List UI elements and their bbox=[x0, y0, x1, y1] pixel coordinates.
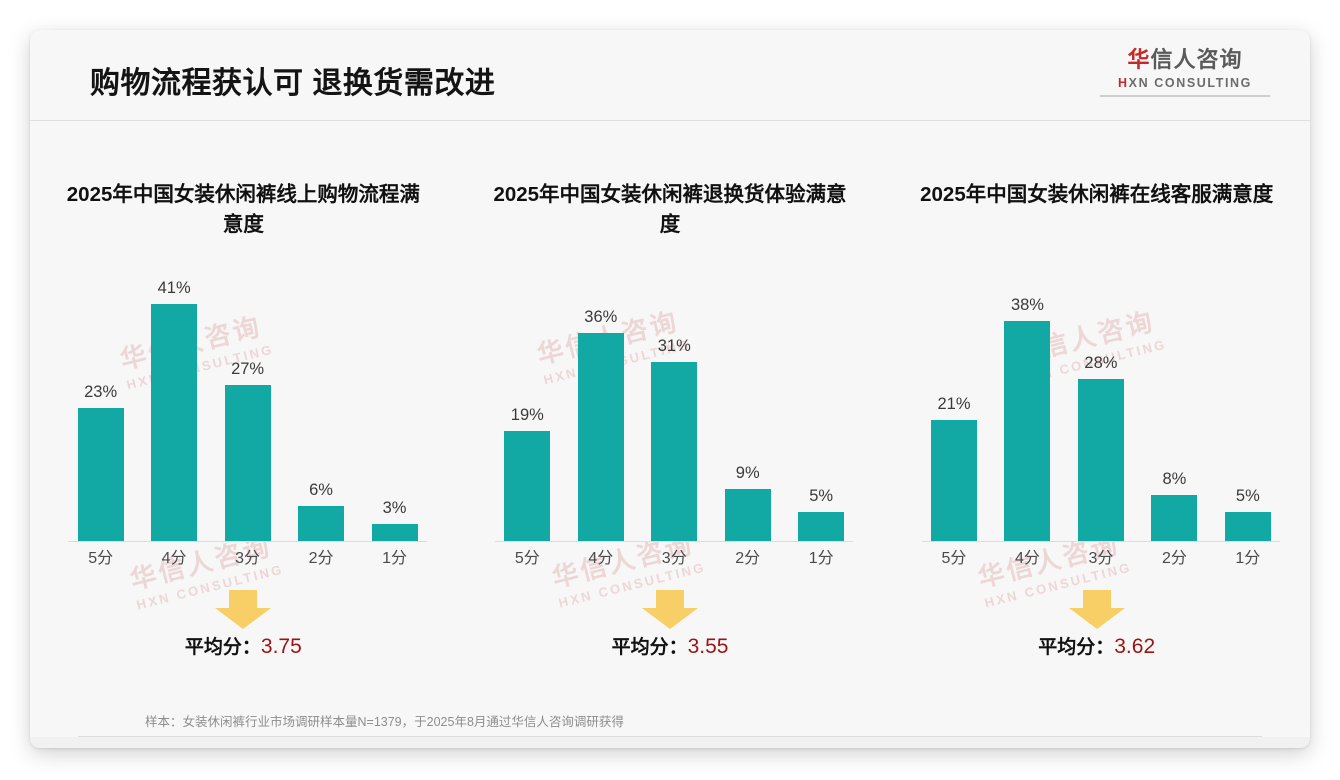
x-tick-label: 3分 bbox=[1069, 544, 1134, 568]
x-tick-label: 3分 bbox=[215, 544, 280, 568]
bar-group: 19% 36% 31% 9% bbox=[495, 282, 853, 541]
bar-group: 21% 38% 28% 8% bbox=[922, 282, 1280, 541]
average-score-value: 3.55 bbox=[688, 635, 729, 658]
bar[interactable] bbox=[78, 408, 124, 541]
logo-english-accent: H bbox=[1118, 76, 1129, 90]
bar-column: 5% bbox=[1216, 282, 1281, 541]
slide-footer: ©2025.10 HXR华信人咨询 www.hxrcon.com bbox=[30, 737, 1310, 748]
logo-chinese-accent: 华 bbox=[1127, 47, 1150, 72]
bar[interactable] bbox=[372, 524, 418, 541]
x-tick-label: 2分 bbox=[715, 544, 780, 568]
down-arrow-icon bbox=[30, 590, 457, 630]
logo-english-rest: XN CONSULTING bbox=[1129, 76, 1252, 90]
chart-plot-area: 19% 36% 31% 9% bbox=[457, 282, 884, 542]
bar-column: 5% bbox=[789, 282, 854, 541]
bar[interactable] bbox=[931, 420, 977, 541]
bar-value-label: 19% bbox=[489, 406, 566, 425]
x-tick-label: 1分 bbox=[789, 544, 854, 568]
average-score-label: 平均分： bbox=[612, 637, 688, 658]
x-tick-label: 1分 bbox=[362, 544, 427, 568]
chart-plot-area: 21% 38% 28% 8% bbox=[883, 282, 1310, 542]
charts-row: 华信人咨询 HXN CONSULTING 华信人咨询 HXN CONSULTIN… bbox=[30, 122, 1310, 662]
bar-value-label: 28% bbox=[1062, 354, 1139, 373]
average-score: 平均分：3.62 bbox=[883, 632, 1310, 659]
x-axis-labels: 5分 4分 3分 2分 1分 bbox=[922, 544, 1280, 568]
logo-underline bbox=[1100, 95, 1270, 97]
slide-header: 购物流程获认可 退换货需改进 华信人咨询 HXN CONSULTING bbox=[30, 30, 1310, 121]
bar-value-label: 3% bbox=[356, 499, 433, 518]
logo-chinese-rest: 信人咨询 bbox=[1151, 47, 1243, 72]
down-arrow-icon bbox=[883, 590, 1310, 630]
brand-logo: 华信人咨询 HXN CONSULTING bbox=[1100, 46, 1270, 97]
bar-value-label: 8% bbox=[1136, 470, 1213, 489]
bar[interactable] bbox=[504, 431, 550, 541]
bar-column: 41% bbox=[142, 282, 207, 541]
slide-canvas: 购物流程获认可 退换货需改进 华信人咨询 HXN CONSULTING 华信人咨… bbox=[30, 30, 1310, 748]
bar-column: 38% bbox=[995, 282, 1060, 541]
bar[interactable] bbox=[578, 333, 624, 541]
chart-panel-2: 华信人咨询 HXN CONSULTING 华信人咨询 HXN CONSULTIN… bbox=[457, 122, 884, 662]
average-score-value: 3.62 bbox=[1114, 635, 1155, 658]
bar-column: 31% bbox=[642, 282, 707, 541]
bar-column: 21% bbox=[922, 282, 987, 541]
bar-value-label: 38% bbox=[989, 296, 1066, 315]
x-tick-label: 4分 bbox=[995, 544, 1060, 568]
bar-value-label: 36% bbox=[562, 308, 639, 327]
logo-english: HXN CONSULTING bbox=[1100, 76, 1270, 90]
x-tick-label: 4分 bbox=[142, 544, 207, 568]
x-axis-labels: 5分 4分 3分 2分 1分 bbox=[495, 544, 853, 568]
bar[interactable] bbox=[651, 362, 697, 541]
bar[interactable] bbox=[151, 304, 197, 541]
bar-value-label: 41% bbox=[135, 279, 212, 298]
bar[interactable] bbox=[798, 512, 844, 541]
chart-title: 2025年中国女装休闲裤线上购物流程满意度 bbox=[64, 180, 422, 239]
chart-panel-3: 华信人咨询 HXN CONSULTING 华信人咨询 HXN CONSULTIN… bbox=[883, 122, 1310, 662]
x-axis-line bbox=[922, 541, 1280, 542]
x-tick-label: 5分 bbox=[495, 544, 560, 568]
bar-value-label: 21% bbox=[915, 395, 992, 414]
x-tick-label: 2分 bbox=[1142, 544, 1207, 568]
x-tick-label: 5分 bbox=[922, 544, 987, 568]
bar-column: 6% bbox=[289, 282, 354, 541]
x-tick-label: 4分 bbox=[569, 544, 634, 568]
bar[interactable] bbox=[1078, 379, 1124, 541]
x-tick-label: 5分 bbox=[68, 544, 133, 568]
bar[interactable] bbox=[298, 506, 344, 541]
bar-value-label: 6% bbox=[282, 481, 359, 500]
bar-value-label: 5% bbox=[782, 487, 859, 506]
x-tick-label: 3分 bbox=[642, 544, 707, 568]
bar[interactable] bbox=[1004, 321, 1050, 541]
bar[interactable] bbox=[225, 385, 271, 541]
x-axis-line bbox=[68, 541, 426, 542]
bar-column: 23% bbox=[68, 282, 133, 541]
bar-column: 19% bbox=[495, 282, 560, 541]
chart-panel-1: 华信人咨询 HXN CONSULTING 华信人咨询 HXN CONSULTIN… bbox=[30, 122, 457, 662]
bar-column: 28% bbox=[1069, 282, 1134, 541]
average-score-label: 平均分： bbox=[1038, 637, 1114, 658]
bar-column: 36% bbox=[569, 282, 634, 541]
bar-group: 23% 41% 27% 6% bbox=[68, 282, 426, 541]
chart-title: 2025年中国女装休闲裤退换货体验满意度 bbox=[491, 180, 849, 239]
chart-title: 2025年中国女装休闲裤在线客服满意度 bbox=[917, 180, 1275, 210]
average-score-label: 平均分： bbox=[185, 637, 261, 658]
x-axis-line bbox=[495, 541, 853, 542]
bar-value-label: 23% bbox=[62, 383, 139, 402]
bar[interactable] bbox=[1225, 512, 1271, 541]
average-score: 平均分：3.55 bbox=[457, 632, 884, 659]
bar-column: 8% bbox=[1142, 282, 1207, 541]
bar-column: 9% bbox=[715, 282, 780, 541]
logo-chinese: 华信人咨询 bbox=[1100, 46, 1270, 74]
bar-column: 27% bbox=[215, 282, 280, 541]
down-arrow-icon bbox=[457, 590, 884, 630]
average-score: 平均分：3.75 bbox=[30, 632, 457, 659]
watermark-line-2: HXN CONSULTING bbox=[135, 561, 285, 612]
average-score-value: 3.75 bbox=[261, 635, 302, 658]
page-title: 购物流程获认可 退换货需改进 bbox=[90, 58, 495, 102]
bar-value-label: 31% bbox=[636, 337, 713, 356]
bar[interactable] bbox=[1151, 495, 1197, 541]
bar-value-label: 5% bbox=[1209, 487, 1286, 506]
sample-note: 样本：女装休闲裤行业市场调研样本量N=1379，于2025年8月通过华信人咨询调… bbox=[145, 711, 624, 730]
chart-plot-area: 23% 41% 27% 6% bbox=[30, 282, 457, 542]
bar-column: 3% bbox=[362, 282, 427, 541]
bar-value-label: 27% bbox=[209, 360, 286, 379]
bar-value-label: 9% bbox=[709, 464, 786, 483]
x-tick-label: 2分 bbox=[289, 544, 354, 568]
bar[interactable] bbox=[725, 489, 771, 541]
x-tick-label: 1分 bbox=[1216, 544, 1281, 568]
x-axis-labels: 5分 4分 3分 2分 1分 bbox=[68, 544, 426, 568]
